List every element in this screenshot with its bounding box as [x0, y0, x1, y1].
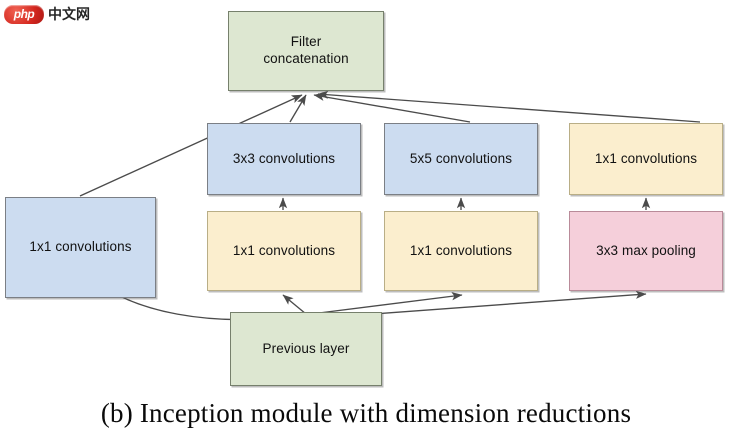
- node-filter-concatenation[interactable]: Filter concatenation: [228, 11, 384, 91]
- php-badge-icon: php: [4, 5, 44, 24]
- node-left-1x1-convolutions[interactable]: 1x1 convolutions: [5, 197, 156, 298]
- node-mid-left-1x1-convolutions-label: 1x1 convolutions: [233, 243, 335, 260]
- watermark-site-text: 中文网: [48, 4, 90, 24]
- node-5x5-convolutions[interactable]: 5x5 convolutions: [384, 123, 538, 195]
- watermark-logo: php 中文网: [4, 3, 112, 25]
- filter-concat-line-1: Filter: [263, 34, 348, 51]
- node-filter-concatenation-label: Filter concatenation: [263, 34, 348, 68]
- edge-right-1x1-to-filter-concat: [318, 94, 700, 122]
- node-3x3-convolutions-label: 3x3 convolutions: [233, 151, 335, 168]
- node-3x3-max-pooling[interactable]: 3x3 max pooling: [569, 211, 723, 291]
- node-previous-layer[interactable]: Previous layer: [230, 312, 382, 386]
- node-mid-left-1x1-convolutions[interactable]: 1x1 convolutions: [207, 211, 361, 291]
- figure-caption: (b) Inception module with dimension redu…: [0, 398, 732, 429]
- node-left-1x1-convolutions-label: 1x1 convolutions: [29, 239, 131, 256]
- node-mid-right-1x1-convolutions-label: 1x1 convolutions: [410, 243, 512, 260]
- node-right-1x1-convolutions[interactable]: 1x1 convolutions: [569, 123, 723, 195]
- filter-concat-line-2: concatenation: [263, 51, 348, 68]
- node-5x5-convolutions-label: 5x5 convolutions: [410, 151, 512, 168]
- node-3x3-convolutions[interactable]: 3x3 convolutions: [207, 123, 361, 195]
- node-mid-right-1x1-convolutions[interactable]: 1x1 convolutions: [384, 211, 538, 291]
- node-previous-layer-label: Previous layer: [263, 341, 350, 358]
- node-3x3-max-pooling-label: 3x3 max pooling: [596, 243, 696, 260]
- figure-canvas: php 中文网: [0, 0, 732, 448]
- node-right-1x1-convolutions-label: 1x1 convolutions: [595, 151, 697, 168]
